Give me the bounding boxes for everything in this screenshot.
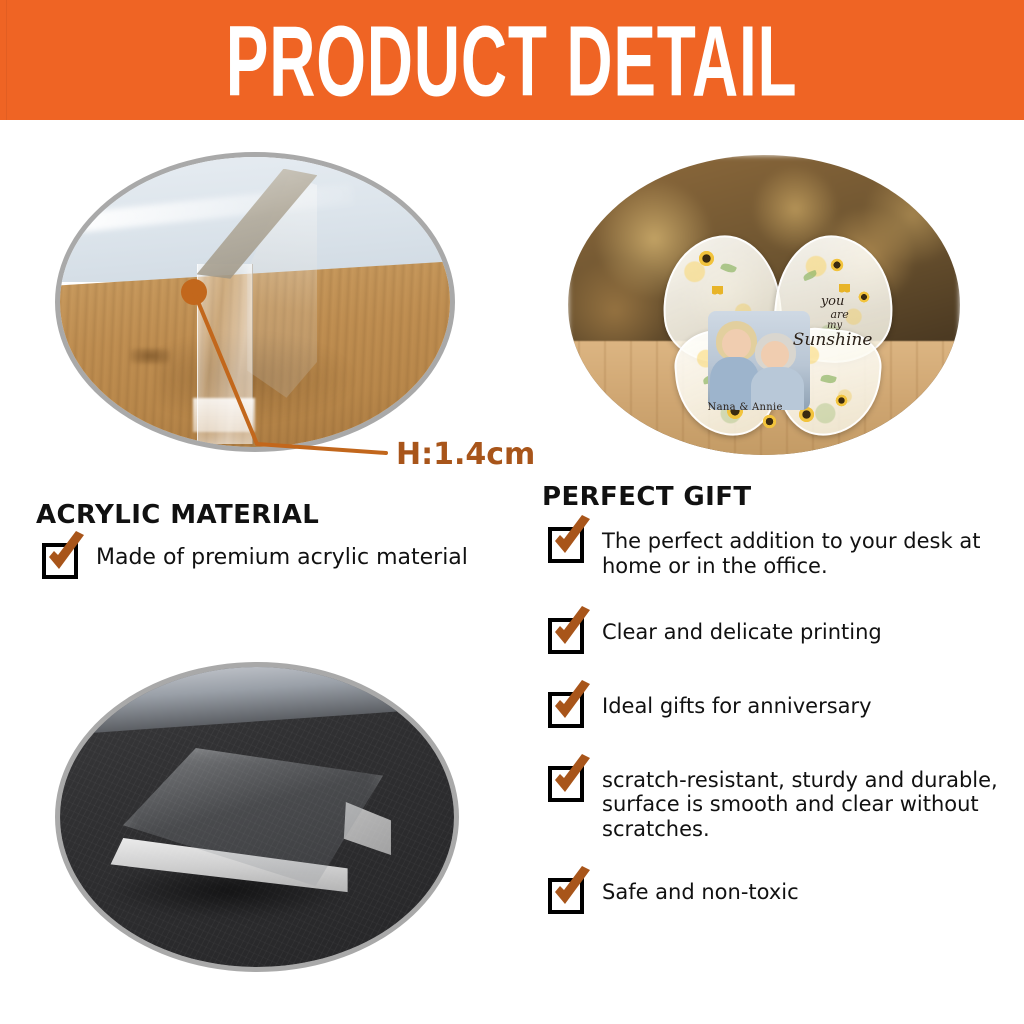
checkbox-checked[interactable] [42, 543, 78, 579]
list-item-label: The perfect addition to your desk at hom… [602, 527, 1008, 579]
section-heading-perfect-gift: PERFECT GIFT [542, 482, 752, 512]
list-item[interactable]: Clear and delicate printing [548, 618, 1008, 654]
feature-list-perfect-gift: The perfect addition to your desk at hom… [548, 527, 1008, 914]
acrylic-edge-photo [55, 152, 455, 452]
list-item-label: Safe and non-toxic [602, 878, 799, 905]
script-line-2: are [794, 309, 885, 321]
list-item-label: Made of premium acrylic material [96, 543, 468, 571]
checkmark-icon [549, 756, 595, 802]
checkbox-checked[interactable] [548, 692, 584, 728]
butterfly-plaque: you are my Sunshine Nana & Annie [662, 236, 889, 434]
page-title: PRODUCT DETAIL [226, 11, 798, 111]
list-item-label: Clear and delicate printing [602, 618, 882, 645]
person-one-face [722, 329, 751, 359]
banner-seam [6, 0, 7, 120]
wood-table-scene [60, 157, 450, 447]
checkbox-checked[interactable] [548, 527, 584, 563]
checkmark-icon [43, 533, 89, 579]
plaque-script-text: you are my Sunshine [780, 295, 885, 350]
list-item-label: scratch-resistant, sturdy and durable, s… [602, 766, 1008, 842]
script-line-1: you [780, 295, 885, 309]
list-item[interactable]: Ideal gifts for anniversary [548, 692, 1008, 728]
list-item[interactable]: scratch-resistant, sturdy and durable, s… [548, 766, 1008, 842]
checkmark-icon [549, 517, 595, 563]
checkbox-checked[interactable] [548, 878, 584, 914]
acrylic-edge-photo-inner [60, 157, 450, 447]
dimension-callout-dot [181, 279, 207, 305]
feature-list-acrylic-material: Made of premium acrylic material [42, 543, 512, 579]
list-item[interactable]: The perfect addition to your desk at hom… [548, 527, 1008, 579]
section-heading-acrylic-material: ACRYLIC MATERIAL [36, 500, 319, 530]
mini-butterfly-icon [712, 286, 723, 295]
checkbox-checked[interactable] [548, 618, 584, 654]
wood-knot [130, 348, 170, 364]
acrylic-slab-base-glow [193, 398, 255, 433]
acrylic-block-photo [55, 662, 459, 972]
checkmark-icon [549, 868, 595, 914]
checkbox-checked[interactable] [548, 766, 584, 802]
sunflower-icon [762, 414, 777, 429]
header-banner: PRODUCT DETAIL [0, 0, 1024, 120]
script-line-4: Sunshine [780, 332, 885, 350]
list-item[interactable]: Safe and non-toxic [548, 878, 1008, 914]
butterfly-plaque-photo: you are my Sunshine Nana & Annie [568, 155, 960, 455]
mini-butterfly-icon [839, 284, 850, 293]
list-item[interactable]: Made of premium acrylic material [42, 543, 512, 579]
acrylic-block-photo-inner [60, 667, 454, 967]
checkmark-icon [549, 608, 595, 654]
dimension-label: H:1.4cm [396, 437, 535, 472]
checkmark-icon [549, 682, 595, 728]
butterfly-photo-inner: you are my Sunshine Nana & Annie [568, 155, 960, 455]
sunflower-icon [830, 258, 844, 272]
list-item-label: Ideal gifts for anniversary [602, 692, 872, 719]
plaque-names-text: Nana & Annie [708, 402, 783, 413]
